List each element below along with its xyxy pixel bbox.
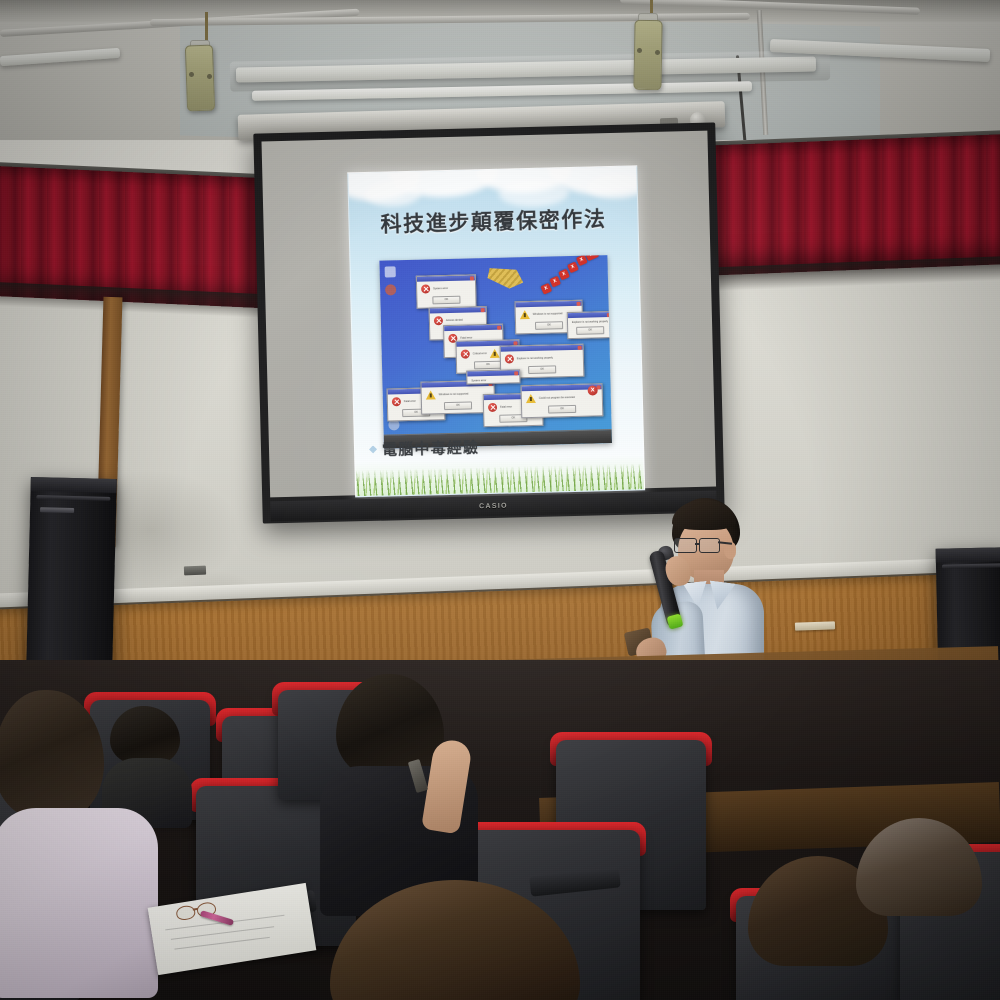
error-icon [461, 349, 470, 358]
cloud [364, 180, 421, 207]
presentation-slide: 科技進步顛覆保密作法 x x x x x x [347, 165, 645, 497]
close-icon[interactable] [607, 313, 611, 317]
speaker-grille-slit [36, 495, 110, 501]
hanging-speaker-icon [633, 20, 662, 90]
attendee-far-right [856, 818, 986, 948]
cloud [586, 172, 645, 199]
error-icon [488, 403, 497, 412]
speaker-badge [40, 507, 74, 513]
projector-screen-frame: 科技進步顛覆保密作法 x x x x x x [253, 122, 724, 523]
dialog-ok-button[interactable]: OK [548, 405, 576, 414]
error-dialog[interactable]: System error OK [416, 274, 477, 308]
dialog-body: Explorer is not working properly [501, 350, 583, 365]
dialog-message: Fatal error [404, 400, 416, 404]
hanging-speaker-bolt [637, 48, 642, 53]
error-icon [421, 284, 430, 293]
attendee-torso [0, 808, 158, 998]
projector-brand-label: CASIO [479, 502, 508, 510]
ledge-box-item [795, 621, 835, 630]
projector-screen-surface: 科技進步顛覆保密作法 x x x x x x [261, 131, 716, 498]
hanging-speaker-bolt [207, 74, 212, 79]
dialog-message: Fatal error [500, 405, 512, 409]
attendee-center-black [318, 674, 478, 904]
warning-icon [520, 310, 530, 319]
error-dialog[interactable]: System error [466, 369, 520, 385]
x-mark-icon: x [540, 283, 552, 295]
close-icon[interactable] [576, 301, 580, 305]
dialog-message: System error [471, 379, 486, 383]
speaker-top-cap [936, 547, 1000, 563]
dialog-ok-button[interactable]: OK [432, 296, 460, 305]
dialog-message: Access denied [446, 319, 463, 323]
x-mark-icon: x [567, 261, 579, 273]
glasses-icon [674, 538, 726, 551]
hanging-speaker-bolt [189, 72, 194, 77]
attendee-hair [856, 818, 982, 916]
diamond-bullet-icon [369, 445, 377, 453]
dialog-message: Critical error [473, 352, 487, 356]
close-icon[interactable] [514, 371, 518, 375]
close-icon[interactable] [578, 345, 582, 349]
dialog-message: Windows is not supported [439, 392, 469, 396]
desktop-screenshot-image: x x x x x x x System error [379, 255, 612, 449]
yellow-arrow-icon [486, 264, 525, 291]
error-icon [392, 397, 401, 406]
attendee-hair [0, 690, 104, 820]
glasses-lens [674, 538, 697, 553]
dialog-ok-button[interactable]: OK [474, 361, 502, 370]
desktop-icon [385, 284, 396, 295]
slide-bullet-line: 電腦中毒經驗 [369, 436, 480, 460]
ledge-small-box-item [184, 566, 206, 576]
dialog-message: System error [433, 287, 448, 291]
close-icon[interactable] [513, 341, 517, 345]
dialog-body: Explorer is not working properly [568, 317, 612, 325]
warning-icon [526, 394, 536, 403]
dialog-ok-button[interactable]: OK [576, 326, 604, 335]
x-mark-streak: x x x x x x [530, 255, 605, 293]
speaker-top-cap [31, 477, 117, 493]
close-icon[interactable] [497, 325, 501, 329]
x-mark-icon: x [558, 269, 570, 281]
dialog-body: System error [417, 280, 475, 294]
dialog-message: Windows is not supported [533, 312, 563, 316]
slide-title: 科技進步顛覆保密作法 [349, 202, 638, 239]
attendee-hair [336, 674, 444, 780]
glasses-temple [718, 541, 732, 544]
dialog-message: Could not program be executed [539, 396, 575, 400]
paper-line [174, 937, 269, 950]
close-icon[interactable] [470, 276, 474, 280]
desktop-icon [385, 266, 396, 277]
glasses-bridge [695, 543, 700, 545]
photo-scene: 科技進步顛覆保密作法 x x x x x x [0, 0, 1000, 1000]
fluorescent-tube-icon [0, 48, 120, 66]
slide-bullet-text: 電腦中毒經驗 [382, 436, 480, 459]
error-dialog[interactable]: Explorer is not working properly OK [567, 311, 612, 339]
dialog-message: Explorer is not working properly [517, 356, 553, 360]
warning-icon [490, 349, 500, 358]
x-mark-icon: x [549, 276, 561, 288]
hanging-speaker-bolt [655, 50, 660, 55]
dialog-message: Explorer is not working properly [572, 320, 608, 324]
dialog-ok-button[interactable]: OK [444, 401, 472, 410]
glasses-lens [699, 538, 720, 553]
close-icon[interactable] [481, 308, 485, 312]
attendee-hair [330, 880, 580, 1000]
attendee-front-left [0, 690, 161, 990]
dialog-body: System error [467, 375, 519, 384]
dialog-ok-button[interactable]: OK [535, 321, 563, 330]
error-icon [505, 354, 514, 363]
speaker-grille-slit [942, 563, 1000, 568]
dialog-ok-button[interactable]: OK [528, 365, 556, 374]
attendee-foreground [330, 880, 580, 1000]
warning-icon [426, 390, 436, 399]
error-icon [434, 316, 443, 325]
stage-curtain-right [700, 134, 1000, 276]
dialog-message: Fatal error [460, 336, 472, 340]
